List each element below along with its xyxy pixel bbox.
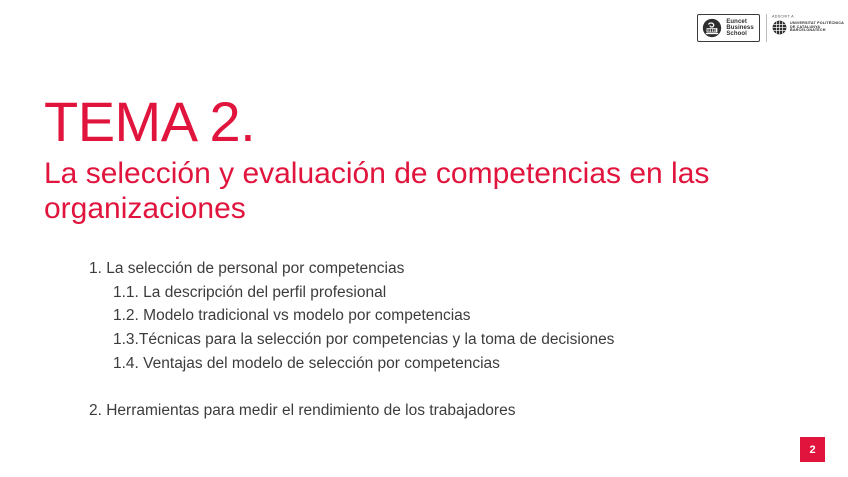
title-block: TEMA 2. La selección y evaluación de com…: [44, 94, 764, 227]
outline-item: 2. Herramientas para medir el rendimient…: [89, 399, 749, 423]
page-subtitle: La selección y evaluación de competencia…: [44, 156, 734, 227]
upc-wordmark: UNIVERSITAT POLITÈCNICA DE CATALUNYA BAR…: [790, 22, 838, 33]
slide-canvas: Euncet Business School ADSCRIT A: [0, 0, 848, 477]
upc-globe-icon: [772, 20, 787, 35]
outline-item: 1.2. Modelo tradicional vs modelo por co…: [89, 304, 749, 328]
header-logo-group: Euncet Business School ADSCRIT A: [697, 14, 838, 42]
outline-item: 1.4. Ventajas del modelo de selección po…: [89, 352, 749, 376]
upc-logo: ADSCRIT A: [766, 14, 838, 42]
outline-list: 1. La selección de personal por competen…: [89, 257, 749, 422]
euncet-wordmark: Euncet Business School: [726, 19, 753, 38]
upc-adscrit-label: ADSCRIT A: [772, 14, 848, 19]
euncet-wordmark-line-3: School: [726, 31, 753, 37]
euncet-emblem-icon: [702, 18, 722, 38]
euncet-logo: Euncet Business School: [697, 14, 759, 42]
page-title: TEMA 2.: [44, 94, 764, 150]
outline-item: 1.1. La descripción del perfil profesion…: [89, 281, 749, 305]
upc-logo-row: UNIVERSITAT POLITÈCNICA DE CATALUNYA BAR…: [772, 20, 838, 35]
outline-item: 1. La selección de personal por competen…: [89, 257, 749, 281]
page-number-badge: 2: [800, 437, 825, 462]
upc-wordmark-line-3: BARCELONATECH: [790, 29, 844, 33]
outline-item: 1.3.Técnicas para la selección por compe…: [89, 328, 749, 352]
